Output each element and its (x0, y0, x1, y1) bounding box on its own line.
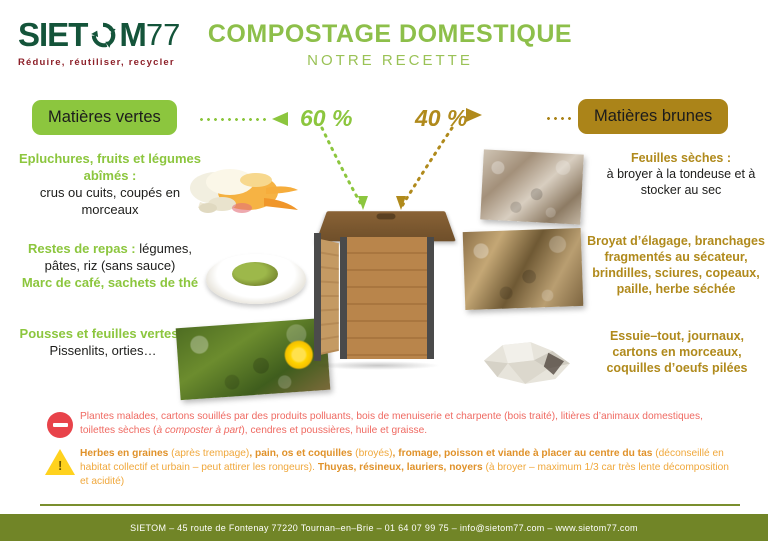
page-subtitle: NOTRE RECETTE (190, 52, 590, 69)
badge-brown-materials: Matières brunes (578, 99, 728, 134)
warning-seg-4: , fromage, poisson et viande à placer au… (393, 448, 653, 459)
logo-text-sietom: SIET (18, 18, 87, 51)
brown-item-2: Broyat d’élagage, branchages fragmentés … (586, 233, 766, 297)
brown-item-1-strong: Feuilles sèches : (631, 151, 731, 165)
green-item-3-plain: Pissenlits, orties… (50, 343, 157, 358)
brown-item-3: Essuie–tout, journaux, cartons en morcea… (592, 328, 762, 376)
wooden-composter-bin (338, 215, 434, 363)
arrow-right-icon (466, 108, 482, 122)
warning-seg-0: Herbes en graines (80, 448, 168, 459)
green-item-2-strong2: Marc de café, sachets de thé (22, 275, 198, 290)
meal-leftovers-plate-photo (200, 240, 312, 312)
warning-seg-2: , pain, os et coquilles (249, 448, 352, 459)
footer-contact-text: SIETOM – 45 route de Fontenay 77220 Tour… (130, 523, 638, 533)
composter-side-panel (318, 239, 339, 356)
arrow-left-icon (272, 112, 288, 126)
forbidden-note-row: Plantes malades, cartons souillés par de… (40, 410, 740, 438)
percent-brown: 40 % (415, 105, 467, 132)
green-item-2: Restes de repas : légumes, pâtes, riz (s… (14, 240, 206, 291)
photo-texture (480, 149, 584, 224)
logo-text-77: 77 (146, 19, 180, 50)
brown-item-3-strong: Essuie–tout, journaux, cartons en morcea… (606, 329, 747, 375)
brown-item-1: Feuilles sèches : à broyer à la tondeuse… (600, 150, 762, 198)
green-item-2-strong: Restes de repas : (28, 241, 136, 256)
warning-seg-6: Thuyas, résineux, lauriers, noyers (318, 462, 483, 473)
warning-note-row: ! Herbes en graines (après trempage), pa… (40, 447, 740, 489)
composter-shadow (316, 361, 440, 370)
page-title: COMPOSTAGE DOMESTIQUE (190, 20, 590, 49)
plate-food-shape (232, 262, 278, 286)
green-item-1-strong: Epluchures, fruits et légumes abîmés : (19, 151, 201, 183)
photo-texture (463, 228, 584, 310)
green-item-1: Epluchures, fruits et légumes abîmés : c… (14, 150, 206, 218)
composter-corner-post (314, 233, 321, 361)
forbidden-text-italic: à composter à part (156, 425, 241, 436)
no-entry-icon (40, 410, 80, 438)
dry-leaves-photo (480, 149, 584, 224)
wood-chips-photo (463, 228, 584, 310)
dotted-connector-brown (545, 117, 575, 120)
badge-green-materials: Matières vertes (32, 100, 177, 135)
notes-section: Plantes malades, cartons souillés par de… (40, 410, 740, 498)
warning-triangle-icon: ! (40, 447, 80, 475)
composter-handle (376, 213, 395, 219)
brand-tagline: Réduire, réutiliser, recycler (18, 57, 198, 68)
paper-cardboard-photo (477, 330, 579, 391)
vegetable-peelings-photo (186, 158, 304, 228)
divider-line (40, 504, 740, 506)
composter-front-panel (340, 237, 434, 359)
green-shoots-dandelion-photo (176, 318, 331, 400)
brown-item-2-strong: Broyat d’élagage, branchages fragmentés … (587, 234, 765, 296)
brown-item-1-plain: à broyer à la tondeuse et à stocker au s… (607, 167, 756, 197)
brand-logo: SIET M 77 Réduire, réutiliser, recycler (18, 18, 198, 68)
percent-green: 60 % (300, 105, 352, 132)
green-item-1-plain: crus ou cuits, coupés en morceaux (40, 185, 180, 217)
forbidden-note-text: Plantes malades, cartons souillés par de… (80, 410, 740, 438)
logo-wordmark: SIET M 77 (18, 18, 198, 51)
warning-seg-3: (broyés) (352, 448, 392, 459)
green-item-3: Pousses et feuilles vertes : Pissenlits,… (14, 325, 192, 359)
forbidden-text-part2: ), cendres et poussières, huile et grais… (241, 425, 427, 436)
warning-note-text: Herbes en graines (après trempage), pain… (80, 447, 740, 489)
logo-text-m: M (119, 18, 146, 51)
infographic-page: SIET M 77 Réduire, réutiliser, recycler … (0, 0, 768, 541)
footer-bar: SIETOM – 45 route de Fontenay 77220 Tour… (0, 514, 768, 541)
recycling-icon (88, 20, 118, 50)
warning-seg-1: (après trempage) (168, 448, 249, 459)
dotted-connector-green (198, 118, 268, 121)
green-item-3-strong: Pousses et feuilles vertes : (20, 326, 187, 341)
